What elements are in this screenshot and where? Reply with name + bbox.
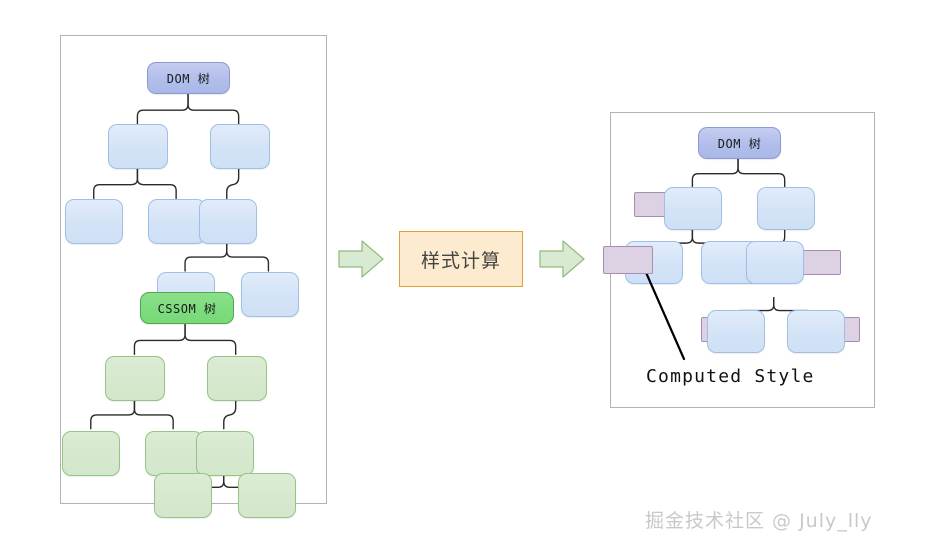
computed-style-chip <box>603 246 653 274</box>
dom-tree-header-label: DOM 树 <box>718 135 761 152</box>
dom-node <box>65 199 123 244</box>
cssom-node <box>62 431 120 476</box>
cssom-tree-header: CSSOM 树 <box>140 292 234 324</box>
dom-tree-header: DOM 树 <box>147 62 230 94</box>
dom-node <box>199 199 257 244</box>
computed-dom-node <box>746 241 804 284</box>
cssom-node <box>105 356 165 401</box>
dom-node <box>108 124 168 169</box>
cssom-node <box>154 473 212 518</box>
cssom-node <box>207 356 267 401</box>
cssom-node <box>145 431 203 476</box>
output-tree-panel: DOM 树 <box>610 112 875 408</box>
computed-dom-node <box>664 187 722 230</box>
diagram-canvas: DOM 树 CSSOM 树 <box>0 0 937 554</box>
dom-node <box>210 124 270 169</box>
watermark: 掘金技术社区 @ July_lly <box>645 506 873 533</box>
cssom-node <box>196 431 254 476</box>
cssom-tree-header-label: CSSOM 树 <box>158 300 217 317</box>
style-calculation-label: 样式计算 <box>421 246 501 273</box>
style-calculation-box: 样式计算 <box>399 231 523 287</box>
input-trees-panel: DOM 树 CSSOM 树 <box>60 35 327 504</box>
cssom-node <box>238 473 296 518</box>
computed-dom-node <box>787 310 845 353</box>
dom-node <box>148 199 206 244</box>
computed-style-label: Computed Style <box>646 366 815 387</box>
computed-dom-node <box>757 187 815 230</box>
dom-node <box>241 272 299 317</box>
dom-tree-header: DOM 树 <box>698 127 781 159</box>
dom-tree-header-label: DOM 树 <box>167 70 210 87</box>
computed-dom-node <box>707 310 765 353</box>
